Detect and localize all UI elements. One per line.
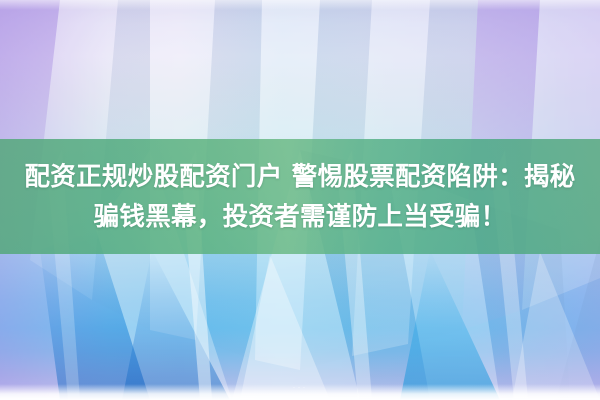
headline-band: 配资正规炒股配资门户 警惕股票配资陷阱：揭秘 骗钱黑幕，投资者需谨防上当受骗！	[0, 139, 600, 254]
headline-line-2: 骗钱黑幕，投资者需谨防上当受骗！	[14, 197, 586, 237]
headline-line-1: 配资正规炒股配资门户 警惕股票配资陷阱：揭秘	[14, 157, 586, 197]
top-highlight	[0, 0, 600, 10]
promo-banner: 配资正规炒股配资门户 警惕股票配资陷阱：揭秘 骗钱黑幕，投资者需谨防上当受骗！ …	[0, 0, 600, 400]
bottom-highlight	[0, 384, 600, 400]
